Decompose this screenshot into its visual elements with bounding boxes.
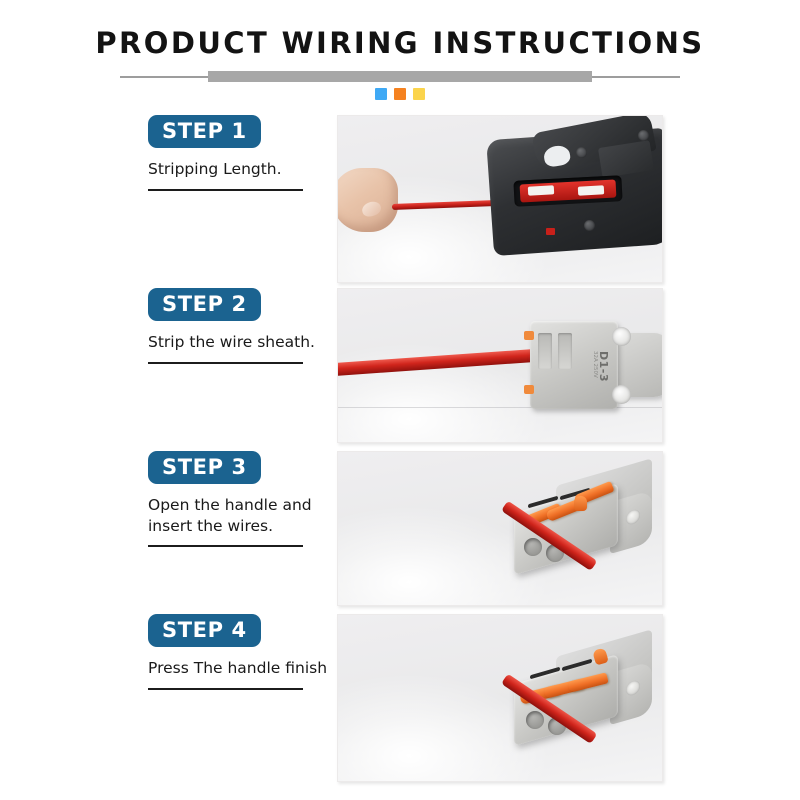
tool-screw-icon	[584, 220, 595, 231]
tool-red-marker	[546, 228, 555, 235]
step-2-description: Strip the wire sheath.	[148, 332, 328, 353]
step-2-badge: STEP 2	[148, 288, 261, 321]
step-3-photo-panel	[337, 451, 663, 606]
step-3-badge: STEP 3	[148, 451, 261, 484]
step-4-badge: STEP 4	[148, 614, 261, 647]
connector-wire-port-1	[526, 711, 544, 729]
step-3-rule	[148, 545, 303, 547]
step-row-4: STEP 4 Press The handle finish	[0, 614, 800, 784]
accent-dot-group	[0, 88, 800, 100]
orange-lever-cap	[574, 496, 587, 511]
step-3-text-block: STEP 3 Open the handle and insert the wi…	[148, 451, 323, 547]
blue-square-icon	[375, 88, 387, 100]
divider-line-right	[592, 76, 680, 78]
connector-window-right	[558, 333, 572, 369]
hand-shape	[337, 168, 398, 232]
photo-connector-levers-closed	[338, 615, 662, 781]
step-1-rule	[148, 189, 303, 191]
step-2-rule	[148, 362, 303, 364]
step-4-description: Press The handle finish	[148, 658, 328, 679]
photo-connector-with-stripped-wire: D1-3 32A 250V	[338, 289, 662, 442]
tool-screw-icon	[638, 130, 649, 141]
page-title: PRODUCT WIRING INSTRUCTIONS	[0, 26, 800, 60]
connector-wire-port-1	[524, 538, 542, 556]
step-row-2: STEP 2 Strip the wire sheath. D1-3 32A 2…	[0, 288, 800, 443]
connector-model-label: D1-3	[597, 351, 610, 382]
step-row-1: STEP 1 Stripping Length.	[0, 115, 800, 280]
divider-line-left	[120, 76, 208, 78]
step-4-photo-panel	[337, 614, 663, 782]
connector-screw-hole-top	[612, 327, 631, 346]
page-header: PRODUCT WIRING INSTRUCTIONS	[0, 0, 800, 110]
step-row-3: STEP 3 Open the handle and insert the wi…	[0, 451, 800, 606]
step-4-text-block: STEP 4 Press The handle finish	[148, 614, 323, 690]
stripper-blade-left	[528, 185, 554, 195]
step-3-description: Open the handle and insert the wires.	[148, 495, 328, 536]
divider-bar	[208, 71, 592, 82]
step-2-text-block: STEP 2 Strip the wire sheath.	[148, 288, 323, 364]
step-1-text-block: STEP 1 Stripping Length.	[148, 115, 323, 191]
tool-screw-icon	[576, 147, 587, 158]
connector-screw-hole-bottom	[612, 385, 631, 404]
step-4-rule	[148, 688, 303, 690]
connector-rating-label: 32A 250V	[592, 351, 598, 378]
photo-connector-levers-open	[338, 452, 662, 605]
step-2-photo-panel: D1-3 32A 250V	[337, 288, 663, 443]
orange-square-icon	[394, 88, 406, 100]
step-1-description: Stripping Length.	[148, 159, 328, 180]
yellow-square-icon	[413, 88, 425, 100]
connector-window-left	[538, 333, 552, 369]
title-divider	[120, 70, 680, 84]
connector-orange-lever-top	[524, 331, 534, 340]
stripper-blade-right	[578, 185, 604, 195]
step-1-badge: STEP 1	[148, 115, 261, 148]
connector-orange-lever-bottom	[524, 385, 534, 394]
step-1-photo-panel	[337, 115, 663, 283]
photo-hand-wire-stripper-tool	[338, 116, 662, 282]
